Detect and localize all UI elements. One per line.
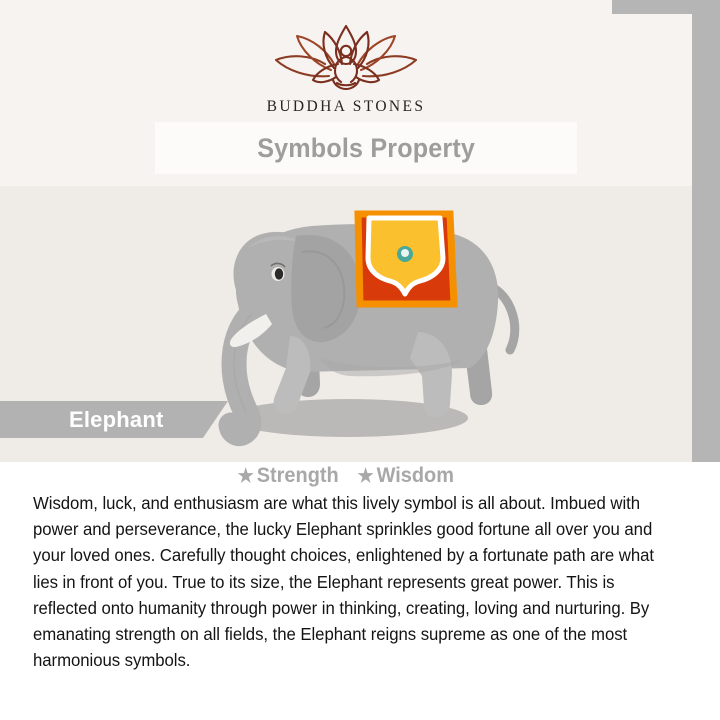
- trait-wisdom: ★Wisdom: [358, 464, 454, 488]
- page-title: Symbols Property: [257, 133, 475, 164]
- symbols-property-card: BUDDHA STONES Symbols Property: [0, 0, 720, 720]
- trait-list: ★Strength★Wisdom: [0, 462, 692, 488]
- symbol-description: Wisdom, luck, and enthusiasm are what th…: [33, 490, 674, 673]
- page-title-band: Symbols Property: [155, 122, 577, 174]
- trait-strength-label: Strength: [257, 464, 339, 487]
- trait-strength: ★Strength: [238, 464, 339, 488]
- trait-wisdom-label: Wisdom: [377, 464, 454, 487]
- brand-name: BUDDHA STONES: [0, 98, 692, 116]
- frame-border-right: [692, 0, 720, 490]
- brand-logo: BUDDHA STONES: [0, 14, 692, 116]
- brand-header: BUDDHA STONES: [0, 14, 692, 122]
- symbol-content: ★Strength★Wisdom Wisdom, luck, and enthu…: [0, 462, 720, 720]
- star-icon: ★: [358, 466, 374, 487]
- symbol-name: Elephant: [69, 407, 164, 433]
- star-icon: ★: [238, 466, 254, 487]
- frame-border-top-mask: [0, 0, 612, 14]
- symbol-name-banner: Elephant: [0, 401, 228, 438]
- lotus-meditation-icon: [0, 24, 692, 96]
